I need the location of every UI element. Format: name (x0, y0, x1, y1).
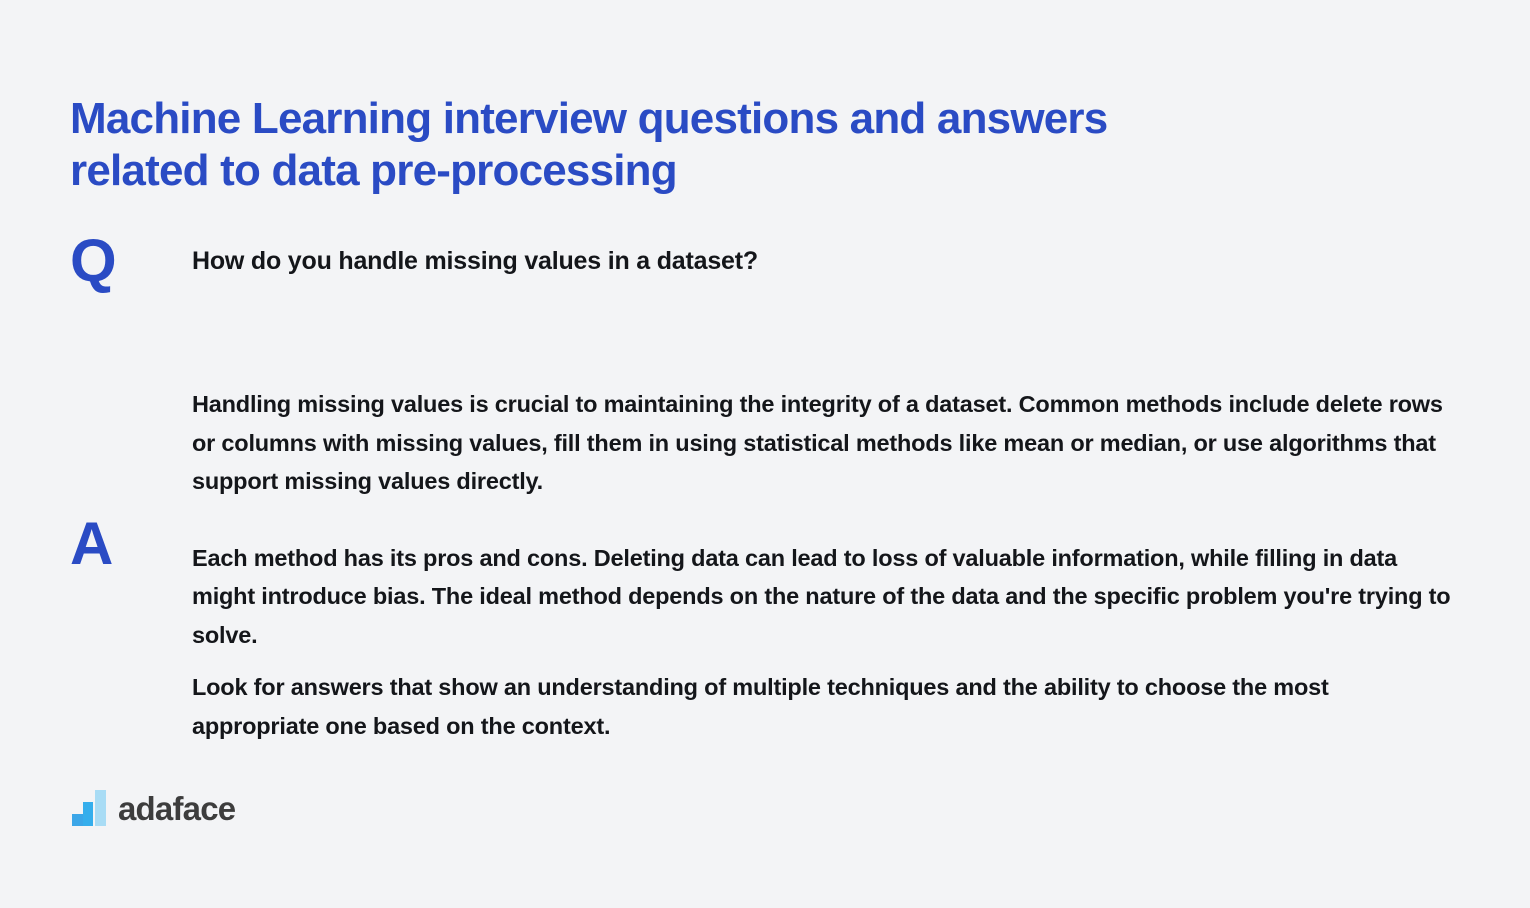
adaface-wordmark: adaface (118, 792, 235, 826)
question-marker: Q (70, 232, 192, 290)
answer-row: A Handling missing values is crucial to … (70, 385, 1470, 745)
question-text: How do you handle missing values in a da… (192, 232, 1342, 278)
question-block: Q How do you handle missing values in a … (70, 232, 1470, 290)
answer-body: Handling missing values is crucial to ma… (192, 385, 1470, 745)
answer-paragraph-2: Each method has its pros and cons. Delet… (192, 539, 1454, 655)
page-title-line-2: related to data pre-processing (70, 145, 1370, 197)
slide-canvas: Machine Learning interview questions and… (0, 0, 1530, 908)
question-row: Q How do you handle missing values in a … (70, 232, 1470, 290)
answer-block: A Handling missing values is crucial to … (70, 385, 1470, 745)
question-body: How do you handle missing values in a da… (192, 232, 1470, 278)
page-title: Machine Learning interview questions and… (70, 93, 1370, 197)
page-title-line-1: Machine Learning interview questions and… (70, 93, 1370, 145)
answer-paragraph-1: Handling missing values is crucial to ma… (192, 385, 1454, 501)
answer-marker: A (70, 385, 192, 573)
adaface-logo[interactable]: adaface (72, 790, 235, 826)
answer-paragraph-3: Look for answers that show an understand… (192, 668, 1454, 745)
bar-chart-icon (72, 790, 106, 826)
